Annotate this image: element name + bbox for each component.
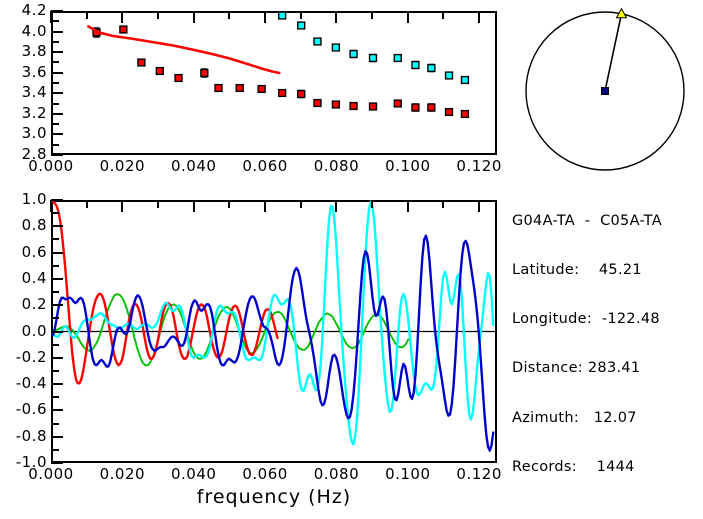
y-tick-minor bbox=[51, 144, 59, 146]
y-tick-minor bbox=[51, 344, 59, 346]
latitude-row: Latitude: 45.21 bbox=[512, 262, 703, 278]
x-tick-minor bbox=[86, 11, 88, 19]
x-tick-label: 0.060 bbox=[231, 159, 299, 174]
y-tick-minor bbox=[51, 449, 59, 451]
y-tick-minor bbox=[51, 61, 59, 63]
data-point-marker bbox=[446, 109, 453, 116]
data-point-marker bbox=[370, 103, 377, 110]
x-tick-label: 0.100 bbox=[374, 159, 442, 174]
data-point-marker bbox=[350, 51, 357, 58]
data-point-marker bbox=[314, 38, 321, 45]
waveform-green-trace bbox=[53, 294, 408, 365]
y-tick-minor bbox=[51, 20, 59, 22]
data-point-marker bbox=[428, 104, 435, 111]
data-point-marker bbox=[279, 90, 286, 97]
x-tick-minor bbox=[300, 11, 302, 19]
y-tick-label: 0.6 bbox=[1, 245, 47, 260]
data-point-marker bbox=[412, 104, 419, 111]
azimuth-row: Azimuth: 12.07 bbox=[512, 410, 703, 426]
y-tick-minor bbox=[51, 123, 59, 125]
waveform-red-trace bbox=[53, 202, 278, 383]
y-tick-minor bbox=[51, 317, 59, 319]
x-tick-major bbox=[193, 200, 195, 212]
azimuth-diagram bbox=[512, 3, 698, 175]
y-tick-major bbox=[51, 304, 63, 306]
y-tick-major bbox=[51, 409, 63, 411]
azimuth-ray bbox=[605, 14, 622, 91]
y-tick-major bbox=[51, 31, 63, 33]
station-pair-info: G04A-TA - C05A-TA Latitude: 45.21 Longit… bbox=[512, 180, 703, 492]
data-point-marker bbox=[428, 65, 435, 72]
station-pair-title: G04A-TA - C05A-TA bbox=[512, 213, 703, 229]
y-tick-minor bbox=[51, 238, 59, 240]
data-point-marker bbox=[258, 86, 265, 93]
x-tick-minor bbox=[300, 200, 302, 208]
cross-correlation-plot bbox=[51, 200, 497, 463]
y-tick-label: -0.8 bbox=[1, 429, 47, 444]
dispersion-plot bbox=[51, 11, 497, 155]
x-tick-major bbox=[335, 200, 337, 212]
data-point-marker bbox=[461, 111, 468, 118]
y-tick-major bbox=[51, 92, 63, 94]
data-point-marker bbox=[215, 85, 222, 92]
distance-row: Distance: 283.41 bbox=[512, 360, 703, 376]
x-tick-label: 0.120 bbox=[445, 467, 513, 482]
x-tick-major bbox=[407, 200, 409, 212]
y-tick-major bbox=[51, 199, 63, 201]
y-tick-label: -0.4 bbox=[1, 376, 47, 391]
y-tick-label: 1.0 bbox=[1, 192, 47, 207]
x-tick-minor bbox=[157, 200, 159, 208]
y-tick-major bbox=[51, 72, 63, 74]
y-tick-major bbox=[51, 383, 63, 385]
x-tick-minor bbox=[86, 200, 88, 208]
y-tick-major bbox=[51, 357, 63, 359]
y-tick-label: 0.2 bbox=[1, 297, 47, 312]
x-tick-major bbox=[193, 11, 195, 23]
y-tick-minor bbox=[51, 291, 59, 293]
y-tick-major bbox=[51, 331, 63, 333]
data-point-marker bbox=[298, 22, 305, 29]
x-tick-label: 0.040 bbox=[160, 159, 228, 174]
origin-marker-icon bbox=[602, 88, 609, 95]
data-point-marker bbox=[138, 59, 145, 66]
data-point-marker bbox=[236, 85, 243, 92]
x-tick-label: 0.080 bbox=[302, 467, 370, 482]
data-point-marker bbox=[314, 100, 321, 107]
records-row: Records: 1444 bbox=[512, 459, 703, 475]
y-tick-major bbox=[51, 252, 63, 254]
x-tick-label: 0.020 bbox=[88, 159, 156, 174]
x-tick-label: 0.080 bbox=[302, 159, 370, 174]
x-tick-major bbox=[50, 200, 52, 212]
data-point-marker bbox=[279, 12, 286, 19]
waveform-blue-trace bbox=[53, 236, 493, 451]
y-tick-label: 0.8 bbox=[1, 218, 47, 233]
y-tick-major bbox=[51, 225, 63, 227]
data-point-marker bbox=[370, 55, 377, 62]
data-point-marker bbox=[332, 44, 339, 51]
dispersion-plot-canvas bbox=[53, 13, 495, 153]
y-tick-label: 0.0 bbox=[1, 324, 47, 339]
y-tick-label: -0.6 bbox=[1, 402, 47, 417]
data-point-marker bbox=[394, 100, 401, 107]
data-series-lower-branch bbox=[93, 26, 468, 117]
y-tick-major bbox=[51, 462, 63, 464]
x-tick-major bbox=[121, 200, 123, 212]
x-tick-major bbox=[478, 200, 480, 212]
reference-curve bbox=[88, 27, 279, 73]
x-tick-major bbox=[50, 11, 52, 23]
data-series-upper-branch bbox=[279, 12, 469, 83]
data-point-marker bbox=[446, 72, 453, 79]
x-tick-major bbox=[407, 11, 409, 23]
y-tick-minor bbox=[51, 370, 59, 372]
y-tick-minor bbox=[51, 423, 59, 425]
y-tick-major bbox=[51, 51, 63, 53]
x-tick-major bbox=[335, 11, 337, 23]
x-tick-label: 0.040 bbox=[160, 467, 228, 482]
data-point-marker bbox=[394, 55, 401, 62]
x-tick-minor bbox=[228, 200, 230, 208]
y-tick-major bbox=[51, 133, 63, 135]
y-tick-major bbox=[51, 436, 63, 438]
data-point-marker bbox=[298, 91, 305, 98]
x-axis-title: frequency (Hz) bbox=[51, 486, 497, 508]
y-tick-minor bbox=[51, 82, 59, 84]
x-tick-label: 0.000 bbox=[17, 467, 85, 482]
y-tick-minor bbox=[51, 103, 59, 105]
x-tick-label: 0.100 bbox=[374, 467, 442, 482]
x-tick-major bbox=[121, 11, 123, 23]
data-point-marker bbox=[461, 77, 468, 84]
longitude-row: Longitude: -122.48 bbox=[512, 311, 703, 327]
data-point-marker bbox=[412, 62, 419, 69]
x-tick-minor bbox=[371, 11, 373, 19]
cross-correlation-y-axis-labels: -1.0-0.8-0.6-0.4-0.20.00.20.40.60.81.0 bbox=[0, 0, 47, 480]
y-tick-label: -0.2 bbox=[1, 350, 47, 365]
x-tick-minor bbox=[228, 11, 230, 19]
data-point-marker bbox=[201, 70, 208, 77]
x-tick-minor bbox=[371, 200, 373, 208]
x-tick-label: 0.120 bbox=[445, 159, 513, 174]
x-tick-label: 0.060 bbox=[231, 467, 299, 482]
data-point-marker bbox=[350, 103, 357, 110]
y-tick-major bbox=[51, 10, 63, 12]
x-tick-label: 0.020 bbox=[88, 467, 156, 482]
data-point-marker bbox=[175, 75, 182, 82]
x-tick-major bbox=[478, 11, 480, 23]
y-tick-label: 0.4 bbox=[1, 271, 47, 286]
y-tick-minor bbox=[51, 41, 59, 43]
x-tick-major bbox=[264, 11, 266, 23]
data-point-marker bbox=[120, 26, 127, 33]
y-tick-major bbox=[51, 278, 63, 280]
y-tick-minor bbox=[51, 212, 59, 214]
azimuth-diagram-canvas bbox=[512, 3, 698, 175]
cross-correlation-plot-canvas bbox=[53, 202, 495, 461]
data-point-marker bbox=[156, 68, 163, 75]
x-tick-minor bbox=[157, 11, 159, 19]
y-tick-major bbox=[51, 113, 63, 115]
y-tick-major bbox=[51, 154, 63, 156]
x-tick-minor bbox=[442, 200, 444, 208]
y-tick-minor bbox=[51, 265, 59, 267]
x-tick-major bbox=[264, 200, 266, 212]
x-tick-minor bbox=[442, 11, 444, 19]
data-point-marker bbox=[332, 101, 339, 108]
y-tick-minor bbox=[51, 396, 59, 398]
